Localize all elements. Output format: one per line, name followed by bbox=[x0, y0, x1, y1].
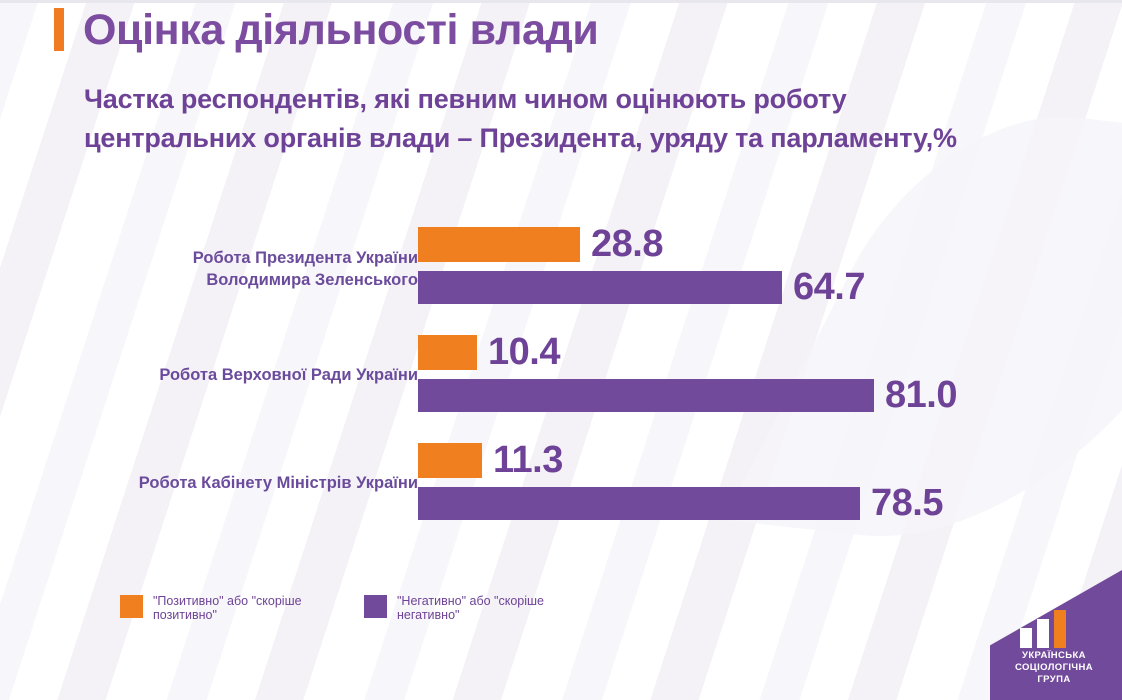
legend-item-negative[interactable]: "Негативно" або "скоріше негативно" bbox=[364, 594, 569, 622]
bar-value-parliament-negative: 81.0 bbox=[885, 376, 957, 414]
bar-row-president-positive: 28.8 bbox=[418, 225, 663, 263]
logo-bar-3 bbox=[1054, 610, 1066, 648]
logo-text-line-1: УКРАЇНСЬКА bbox=[990, 650, 1118, 662]
slide-canvas: Оцінка діяльності влади Частка респонден… bbox=[0, 0, 1122, 700]
logo-bar-chart-icon bbox=[1020, 610, 1066, 648]
bar-cabinet-negative[interactable] bbox=[418, 487, 860, 520]
bar-row-cabinet-positive: 11.3 bbox=[418, 441, 563, 479]
bar-president-negative[interactable] bbox=[418, 271, 782, 304]
logo-bar-1 bbox=[1020, 628, 1032, 648]
bar-value-cabinet-positive: 11.3 bbox=[493, 441, 563, 479]
bar-row-parliament-negative: 81.0 bbox=[418, 376, 957, 414]
page-subtitle: Частка респондентів, які певним чином оц… bbox=[84, 80, 1094, 158]
bar-chart: Робота Президента України Володимира Зел… bbox=[0, 205, 1122, 545]
category-label-cabinet: Робота Кабінету Міністрів України bbox=[88, 472, 418, 494]
legend-swatch-negative-icon bbox=[364, 595, 387, 618]
chart-group-parliament: Робота Верховної Ради України 10.4 81.0 bbox=[0, 333, 1122, 433]
bar-row-cabinet-negative: 78.5 bbox=[418, 484, 943, 522]
bar-parliament-positive[interactable] bbox=[418, 335, 477, 370]
bar-parliament-negative[interactable] bbox=[418, 379, 874, 412]
chart-group-cabinet: Робота Кабінету Міністрів України 11.3 7… bbox=[0, 441, 1122, 541]
logo-bar-2 bbox=[1037, 619, 1049, 648]
subtitle-line-2: центральних органів влади – Президента, … bbox=[84, 119, 1094, 158]
bar-row-parliament-positive: 10.4 bbox=[418, 333, 560, 371]
bar-value-parliament-positive: 10.4 bbox=[488, 333, 560, 371]
bar-president-positive[interactable] bbox=[418, 227, 580, 262]
bar-value-president-positive: 28.8 bbox=[591, 225, 663, 263]
bar-row-president-negative: 64.7 bbox=[418, 268, 865, 306]
page-title: Оцінка діяльності влади bbox=[83, 8, 598, 52]
bar-cabinet-positive[interactable] bbox=[418, 443, 482, 478]
top-divider-line bbox=[0, 0, 1122, 3]
category-label-parliament: Робота Верховної Ради України bbox=[88, 364, 418, 386]
bar-value-cabinet-negative: 78.5 bbox=[871, 484, 943, 522]
logo-text: УКРАЇНСЬКА СОЦІОЛОГІЧНА ГРУПА bbox=[990, 650, 1118, 686]
legend-swatch-positive-icon bbox=[120, 595, 143, 618]
category-label-line-1: Робота Кабінету Міністрів України bbox=[88, 472, 418, 494]
bar-value-president-negative: 64.7 bbox=[793, 268, 865, 306]
logo-text-line-2: СОЦІОЛОГІЧНА bbox=[990, 662, 1118, 674]
chart-legend: "Позитивно" або "скоріше позитивно" "Нег… bbox=[120, 594, 608, 622]
category-label-line-2: Володимира Зеленського bbox=[88, 269, 418, 291]
category-label-president: Робота Президента України Володимира Зел… bbox=[88, 247, 418, 291]
organization-logo: УКРАЇНСЬКА СОЦІОЛОГІЧНА ГРУПА bbox=[990, 570, 1122, 700]
header: Оцінка діяльності влади bbox=[54, 8, 598, 52]
title-accent-bar bbox=[54, 8, 64, 51]
legend-item-positive[interactable]: "Позитивно" або "скоріше позитивно" bbox=[120, 594, 325, 622]
chart-group-president: Робота Президента України Володимира Зел… bbox=[0, 225, 1122, 325]
category-label-line-1: Робота Президента України bbox=[88, 247, 418, 269]
category-label-line-1: Робота Верховної Ради України bbox=[88, 364, 418, 386]
logo-text-line-3: ГРУПА bbox=[990, 674, 1118, 686]
legend-label-negative: "Негативно" або "скоріше негативно" bbox=[397, 594, 569, 622]
subtitle-line-1: Частка респондентів, які певним чином оц… bbox=[84, 80, 1094, 119]
legend-label-positive: "Позитивно" або "скоріше позитивно" bbox=[153, 594, 325, 622]
